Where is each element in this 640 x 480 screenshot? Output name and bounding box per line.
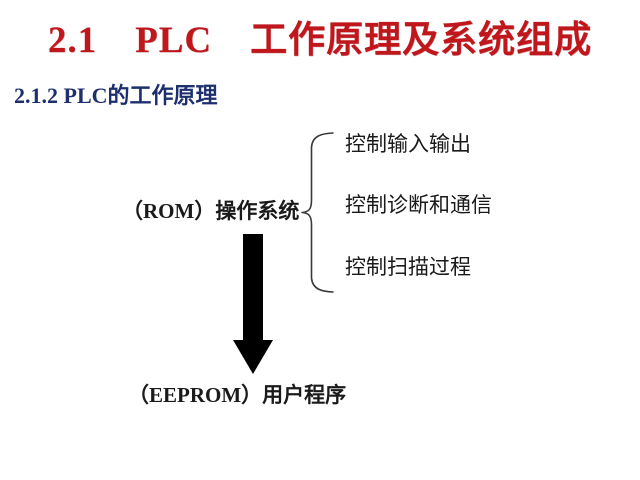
branch-label-2: 控制诊断和通信 bbox=[345, 192, 492, 218]
rom-node-label: （ROM）操作系统 bbox=[122, 198, 299, 224]
branch-label-1: 控制输入输出 bbox=[345, 131, 471, 157]
page-title: 2.1 PLC 工作原理及系统组成 bbox=[0, 18, 640, 64]
eeprom-node-label: （EEPROM）用户程序 bbox=[128, 382, 346, 408]
right-curly-brace-icon bbox=[300, 130, 340, 295]
slide-canvas: 2.1 PLC 工作原理及系统组成 2.1.2 PLC的工作原理 （ROM）操作… bbox=[0, 0, 640, 480]
branch-label-3: 控制扫描过程 bbox=[345, 254, 471, 280]
section-subtitle: 2.1.2 PLC的工作原理 bbox=[14, 82, 218, 110]
down-arrow-icon bbox=[230, 234, 280, 378]
